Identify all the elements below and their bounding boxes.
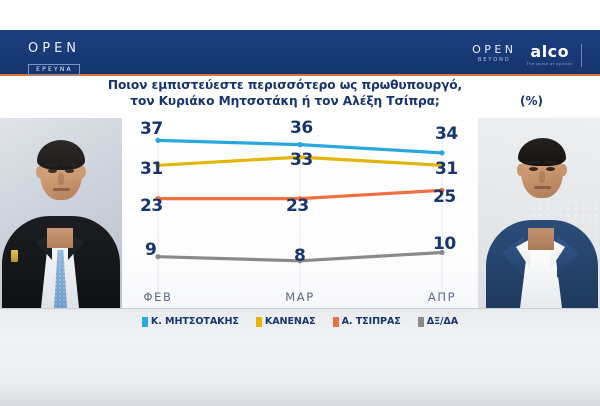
mitsotakis-nose — [58, 173, 64, 185]
legend-item-dxda: ΔΞ/ΔΑ — [418, 316, 458, 327]
alco-logo-word: alco — [527, 44, 573, 60]
value-label-mitsotakis-feb: 37 — [140, 121, 163, 138]
legend-label-mitsotakis: Κ. ΜΗΤΣΟΤΑΚΗΣ — [151, 316, 239, 327]
title-line-2: τον Κυριάκο Μητσοτάκη ή τον Αλέξη Τσίπρα… — [90, 94, 480, 110]
legend-label-kanenas: ΚΑΝΕΝΑΣ — [265, 316, 316, 327]
legend-label-dxda: ΔΞ/ΔΑ — [427, 316, 458, 327]
value-label-dxda-apr: 10 — [433, 236, 456, 253]
mitsotakis-eye-right — [65, 169, 74, 173]
kyriakos-mitsotakis-photo — [0, 118, 122, 308]
legend-item-kanenas: ΚΑΝΕΝΑΣ — [256, 316, 316, 327]
poll-infographic: OPEN ΕΡΕΥΝΑ OPEN BEYOND alco The pulse o… — [0, 0, 600, 406]
value-label-tsipras-feb: 23 — [140, 198, 163, 215]
x-axis: ΦΕΒ ΜΑΡ ΑΠΡ — [120, 290, 480, 308]
open-beyond-word: OPEN — [472, 44, 516, 56]
mitsotakis-ear-right — [79, 166, 86, 178]
legend-swatch-dxda — [418, 317, 424, 327]
tsipras-nose — [539, 171, 545, 183]
tsipras-eye-left — [529, 167, 538, 171]
open-logo-sub: ΕΡΕΥΝΑ — [28, 64, 80, 76]
open-beyond-logo: OPEN BEYOND — [472, 44, 516, 64]
mitsotakis-mouth — [53, 188, 70, 191]
alco-logo: alco The pulse of opinion — [527, 44, 582, 67]
chart-legend: Κ. ΜΗΤΣΟΤΑΚΗΣ ΚΑΝΕΝΑΣ Α. ΤΣΙΠΡΑΣ ΔΞ/ΔΑ — [0, 316, 600, 327]
legend-swatch-mitsotakis — [142, 317, 148, 327]
percent-unit-label: (%) — [520, 94, 543, 108]
open-beyond-sub: BEYOND — [472, 57, 516, 64]
legend-label-tsipras: Α. ΤΣΙΠΡΑΣ — [342, 316, 401, 327]
tsipras-neck — [528, 228, 554, 250]
x-tick-mar: ΜΑΡ — [285, 290, 315, 304]
alco-logo-tagline: The pulse of opinion — [527, 61, 573, 67]
partner-logos: OPEN BEYOND alco The pulse of opinion — [472, 44, 582, 67]
x-tick-apr: ΑΠΡ — [428, 290, 456, 304]
open-logo-word: OPEN — [28, 42, 80, 56]
tsipras-ear-right — [560, 164, 567, 176]
tsipras-eye-right — [546, 167, 555, 171]
legend-swatch-tsipras — [333, 317, 339, 327]
value-label-kanenas-feb: 31 — [140, 161, 163, 178]
mitsotakis-ear-left — [36, 166, 43, 178]
page-title: Ποιον εμπιστεύεστε περισσότερο ως πρωθυπ… — [90, 78, 480, 109]
axis-baseline — [0, 308, 600, 309]
mitsotakis-eye-left — [48, 169, 57, 173]
alexis-tsipras-photo — [478, 118, 600, 308]
value-label-kanenas-mar: 33 — [290, 152, 313, 169]
value-label-mitsotakis-mar: 36 — [290, 120, 313, 137]
top-margin — [0, 0, 600, 30]
series-point-0-1 — [297, 142, 302, 147]
series-point-0-2 — [439, 150, 444, 155]
tsipras-ear-left — [517, 164, 524, 176]
line-chart: 37 36 34 31 33 31 23 23 25 9 8 10 — [120, 118, 480, 308]
x-tick-feb: ΦΕΒ — [143, 290, 172, 304]
value-label-kanenas-apr: 31 — [435, 161, 458, 178]
open-ereyna-logo: OPEN ΕΡΕΥΝΑ — [28, 42, 80, 76]
tsipras-mouth — [534, 186, 551, 189]
value-label-mitsotakis-apr: 34 — [435, 126, 458, 143]
mitsotakis-lapel-pin — [11, 250, 18, 262]
value-label-dxda-mar: 8 — [294, 248, 305, 265]
value-label-tsipras-mar: 23 — [286, 198, 309, 215]
title-line-1: Ποιον εμπιστεύεστε περισσότερο ως πρωθυπ… — [90, 78, 480, 94]
legend-item-mitsotakis: Κ. ΜΗΤΣΟΤΑΚΗΣ — [142, 316, 239, 327]
legend-item-tsipras: Α. ΤΣΙΠΡΑΣ — [333, 316, 401, 327]
value-label-tsipras-apr: 25 — [433, 189, 456, 206]
header-accent-rule — [0, 74, 600, 76]
value-label-dxda-feb: 9 — [145, 242, 156, 259]
mitsotakis-neck — [47, 228, 73, 248]
legend-swatch-kanenas — [256, 317, 262, 327]
